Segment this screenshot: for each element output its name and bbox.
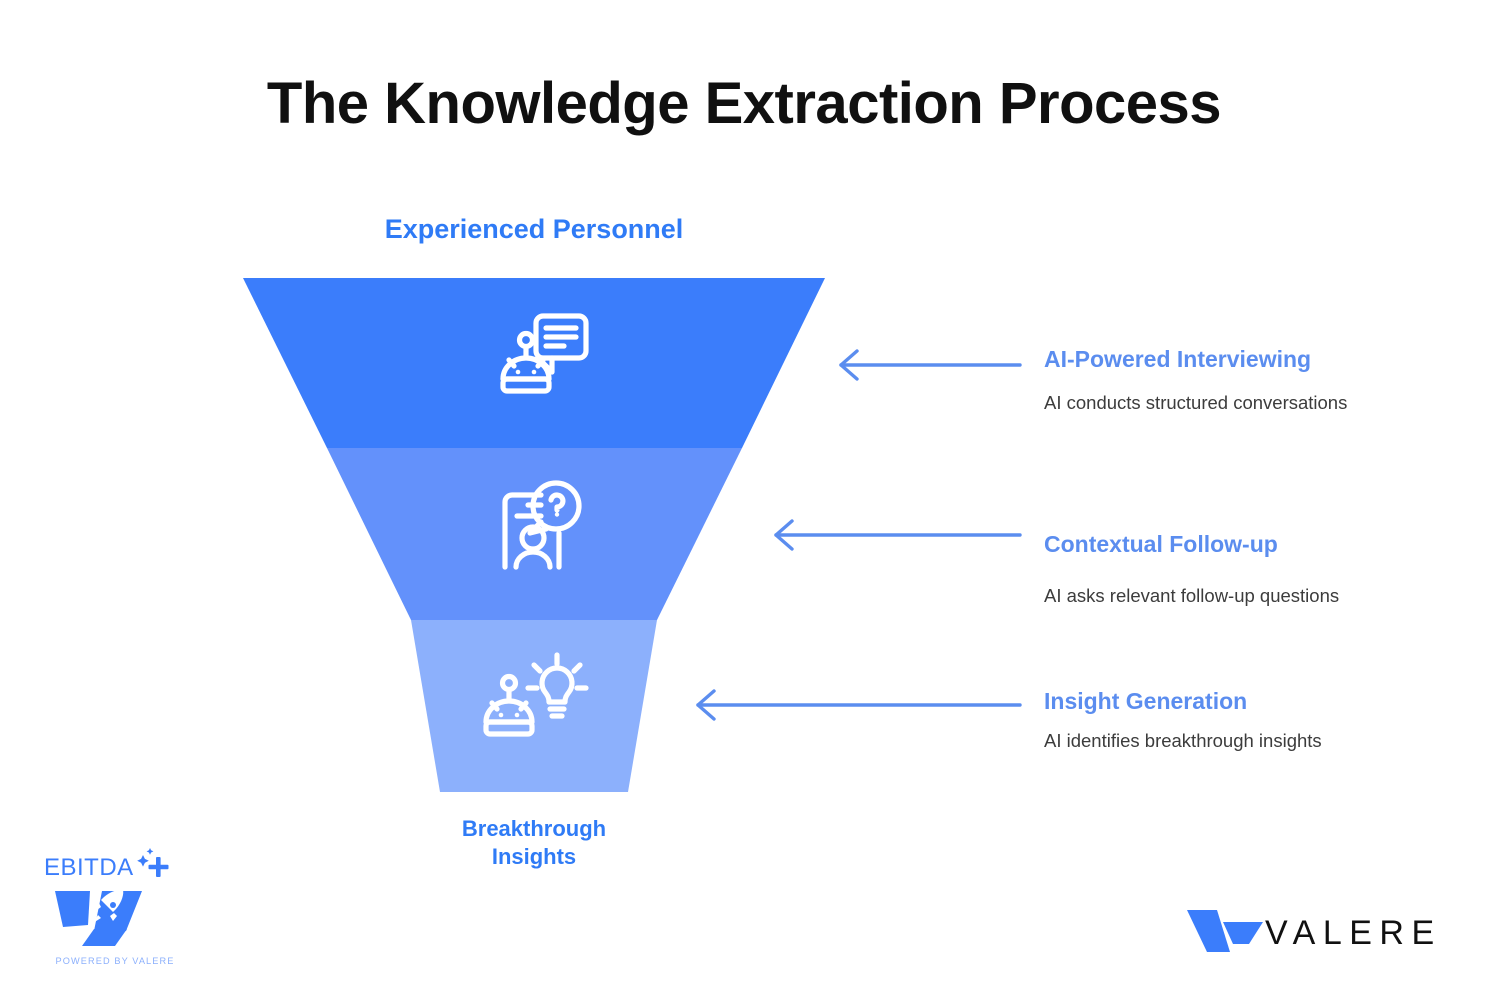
step-description: AI conducts structured conversations xyxy=(1044,376,1374,416)
arrow-follow-up xyxy=(776,521,1020,549)
step-description: AI identifies breakthrough insights xyxy=(1044,718,1374,754)
funnel-bottom-label: Breakthrough Insights xyxy=(384,815,684,870)
funnel-bottom-label-line2: Insights xyxy=(384,843,684,871)
ebitda-wordmark: EBITDA xyxy=(44,854,134,881)
funnel-band-interviewing[interactable] xyxy=(243,278,825,448)
step-title: AI-Powered Interviewing xyxy=(1044,344,1374,376)
valere-v-mark-icon xyxy=(1187,910,1263,952)
funnel-top-label: Experienced Personnel xyxy=(243,213,825,247)
step-insight-generation[interactable]: Insight Generation AI identifies breakth… xyxy=(1044,686,1374,753)
funnel-band-insight[interactable] xyxy=(411,620,657,792)
robot-speech-bubble-icon xyxy=(503,316,586,391)
arrow-insight xyxy=(698,691,1020,719)
sparkle-icon xyxy=(137,848,153,867)
page-title: The Knowledge Extraction Process xyxy=(0,72,1488,136)
ebitda-tagline: POWERED BY VALERE xyxy=(56,956,175,966)
step-ai-powered-interviewing[interactable]: AI-Powered Interviewing AI conducts stru… xyxy=(1044,344,1374,415)
arrow-interviewing xyxy=(841,351,1020,379)
step-description: AI asks relevant follow-up questions xyxy=(1044,561,1374,609)
funnel-diagram xyxy=(0,0,1488,984)
plus-icon xyxy=(149,857,169,877)
funnel-band-follow-up[interactable] xyxy=(327,448,742,620)
person-question-bubble-icon xyxy=(505,483,579,567)
ebitda-plus-logo: EBITDA POWERED BY VALERE xyxy=(30,845,200,970)
step-contextual-follow-up[interactable]: Contextual Follow-up AI asks relevant fo… xyxy=(1044,529,1374,608)
valere-logo: VALERE xyxy=(1185,900,1450,960)
funnel-bottom-label-line1: Breakthrough xyxy=(384,815,684,843)
step-title: Contextual Follow-up xyxy=(1044,529,1374,561)
robot-lightbulb-icon xyxy=(486,655,586,734)
slide-canvas: The Knowledge Extraction Process Experie… xyxy=(0,0,1488,984)
valere-wordmark: VALERE xyxy=(1265,914,1442,952)
step-title: Insight Generation xyxy=(1044,686,1374,718)
